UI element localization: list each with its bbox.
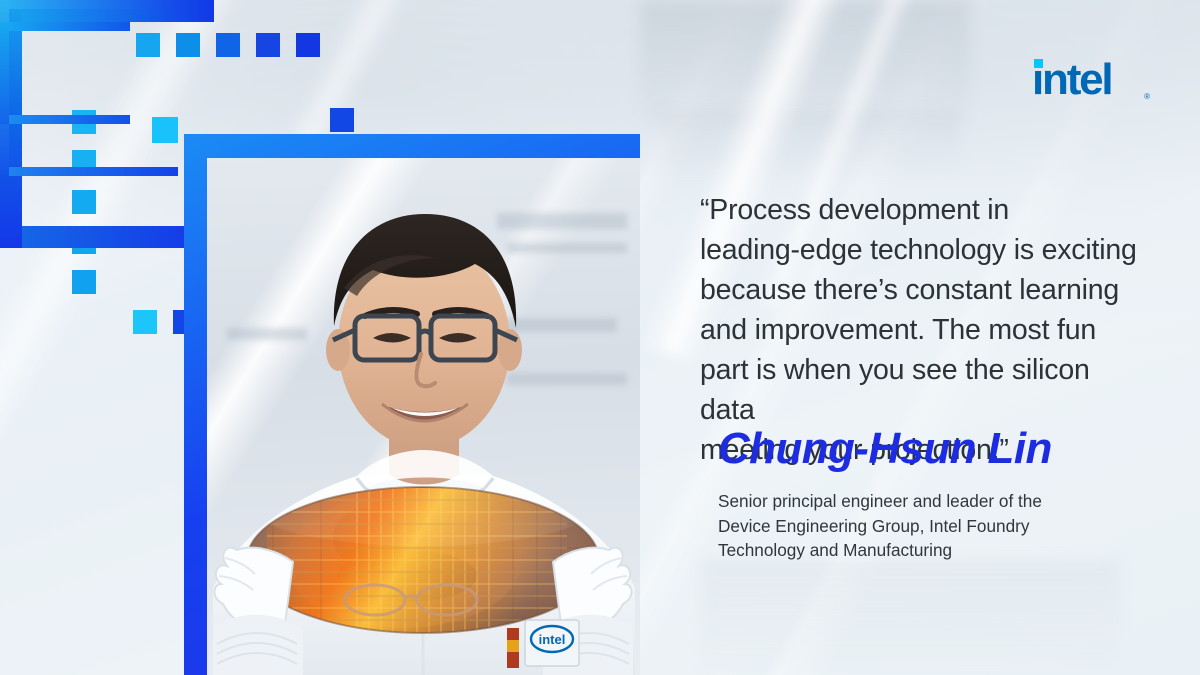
background-shelf-3: [700, 560, 1120, 670]
person-name: Chung-Hsun Lin: [718, 424, 1052, 474]
decor-bracket-inner: [0, 424, 130, 548]
decor-square-right-edge: [330, 108, 354, 132]
person-role-line: Technology and Manufacturing: [718, 538, 1118, 563]
promo-graphic: intel “Process development in leading-ed…: [0, 0, 1200, 675]
intel-logo-dot: [1034, 59, 1043, 68]
quote-line: “Process development in: [700, 190, 1140, 230]
decor-square-bottom-1: [133, 310, 157, 334]
decor-square-top-4: [256, 33, 280, 57]
person-role-line: Device Engineering Group, Intel Foundry: [718, 514, 1118, 539]
person-role: Senior principal engineer and leader of …: [718, 489, 1118, 563]
person-illustration: intel: [207, 158, 640, 675]
decor-square-left-5: [72, 270, 96, 294]
quote-line: leading-edge technology is exciting: [700, 230, 1140, 270]
registered-trademark-icon: ®: [1144, 92, 1150, 101]
decor-square-top-3: [216, 33, 240, 57]
quote-line: part is when you see the silicon data: [700, 350, 1140, 430]
intel-logo: intel ®: [1032, 58, 1148, 106]
circuit-decoration: [0, 0, 214, 548]
quote-line: and improvement. The most fun: [700, 310, 1140, 350]
background-shelf-2: [660, 110, 960, 170]
person-role-line: Senior principal engineer and leader of …: [718, 489, 1118, 514]
decor-square-top-1: [136, 33, 160, 57]
portrait-photo: intel: [207, 158, 640, 675]
quote-line: because there’s constant learning: [700, 270, 1140, 310]
decor-node-square: [152, 117, 178, 143]
decor-square-left-3: [72, 190, 96, 214]
svg-text:intel: intel: [539, 632, 566, 647]
intel-wordmark: intel: [1032, 58, 1148, 102]
decor-square-top-2: [176, 33, 200, 57]
decor-square-top-5: [296, 33, 320, 57]
